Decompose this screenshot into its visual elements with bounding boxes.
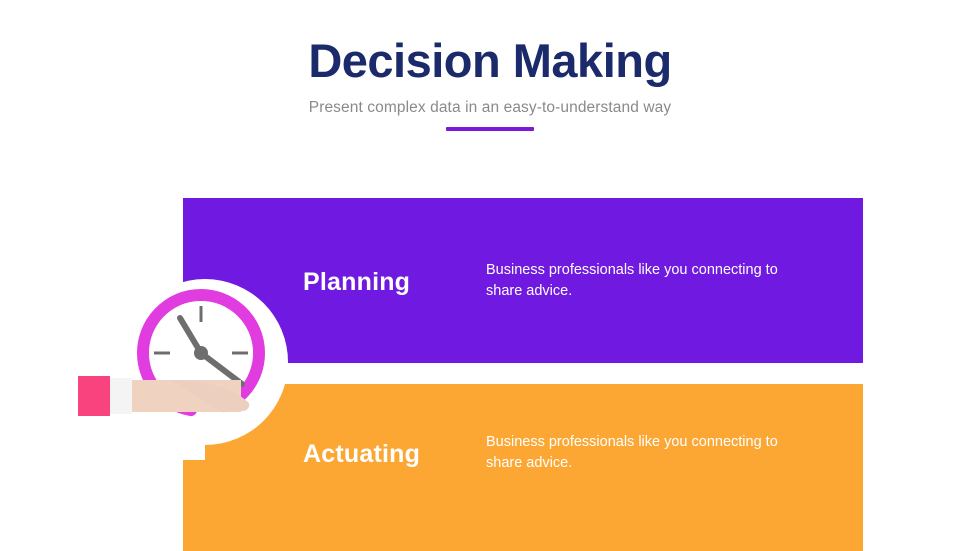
clock-tick-12 (200, 306, 203, 322)
clock-tick-3 (232, 352, 248, 355)
slide-canvas: Decision Making Present complex data in … (0, 0, 980, 551)
sleeve-cuff (108, 378, 132, 414)
clock-center-pin (194, 346, 208, 360)
row-planning-label: Planning (303, 268, 503, 297)
row-actuating-description: Business professionals like you connecti… (486, 432, 796, 474)
clock-tick-9 (154, 352, 170, 355)
row-actuating-label: Actuating (303, 440, 503, 469)
hand-holding-clock-illustration (70, 270, 300, 460)
row-planning-description: Business professionals like you connecti… (486, 260, 796, 302)
sleeve (78, 376, 110, 416)
